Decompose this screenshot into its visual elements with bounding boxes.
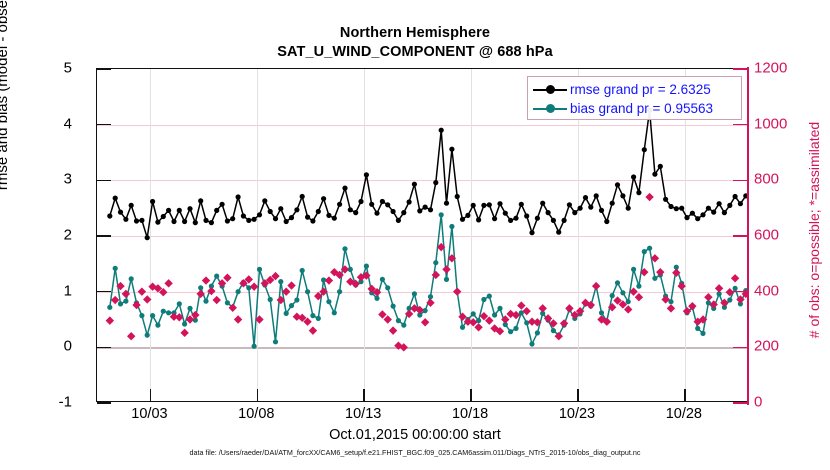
data-point bbox=[348, 207, 353, 212]
data-point bbox=[257, 212, 262, 217]
legend-item-bias[interactable]: bias grand pr = 0.95563 bbox=[533, 99, 736, 118]
data-point bbox=[234, 315, 242, 323]
bottom-axis-title: Oct.01,2015 00:00:00 start bbox=[0, 427, 830, 443]
data-point bbox=[209, 220, 214, 225]
right-axis-spine bbox=[747, 67, 749, 404]
y-axis-label-left: 2 bbox=[32, 227, 72, 244]
data-point bbox=[497, 201, 502, 206]
data-point bbox=[198, 198, 203, 203]
data-point bbox=[166, 208, 171, 213]
data-point bbox=[624, 305, 632, 313]
data-point bbox=[474, 323, 482, 331]
data-point bbox=[305, 215, 310, 220]
data-point bbox=[177, 208, 182, 213]
data-point bbox=[674, 206, 679, 211]
data-point bbox=[695, 216, 700, 221]
data-point bbox=[524, 320, 529, 325]
data-point bbox=[481, 203, 486, 208]
data-point bbox=[695, 326, 700, 331]
data-point bbox=[471, 203, 476, 208]
series-obs bbox=[106, 193, 747, 352]
data-point bbox=[161, 214, 166, 219]
tick-bottom bbox=[257, 389, 259, 401]
data-point bbox=[214, 208, 219, 213]
data-point bbox=[508, 329, 513, 334]
data-point bbox=[706, 206, 711, 211]
data-point bbox=[241, 213, 246, 218]
data-point bbox=[592, 282, 600, 290]
data-point bbox=[143, 295, 151, 303]
data-point bbox=[620, 193, 625, 198]
data-point bbox=[433, 180, 438, 185]
data-point bbox=[492, 216, 497, 221]
data-point bbox=[118, 301, 123, 306]
data-point bbox=[273, 339, 278, 344]
data-point bbox=[127, 332, 135, 340]
data-point bbox=[652, 276, 657, 281]
data-point bbox=[546, 210, 551, 215]
data-point bbox=[150, 199, 155, 204]
data-point bbox=[310, 218, 315, 223]
y-axis-label-right: 1000 bbox=[754, 115, 814, 132]
data-point bbox=[166, 310, 171, 315]
tick-bottom bbox=[577, 389, 579, 401]
data-point bbox=[177, 301, 182, 306]
data-point bbox=[636, 190, 641, 195]
data-point bbox=[442, 265, 450, 273]
data-point bbox=[717, 201, 722, 206]
tick-right bbox=[733, 68, 747, 70]
data-point bbox=[449, 147, 454, 152]
data-point bbox=[380, 277, 385, 282]
data-point bbox=[284, 311, 289, 316]
legend-item-rmse[interactable]: rmse grand pr = 2.6325 bbox=[533, 80, 736, 99]
data-point bbox=[460, 325, 465, 330]
data-point bbox=[380, 199, 385, 204]
data-point bbox=[439, 128, 444, 133]
tick-right bbox=[733, 402, 747, 404]
data-point bbox=[513, 216, 518, 221]
data-point bbox=[182, 219, 187, 224]
tick-right bbox=[733, 180, 747, 182]
data-point bbox=[353, 210, 358, 215]
data-point bbox=[578, 206, 583, 211]
data-point bbox=[642, 249, 647, 254]
data-point bbox=[385, 202, 390, 207]
data-point bbox=[631, 174, 636, 179]
data-point bbox=[278, 279, 283, 284]
data-point bbox=[316, 209, 321, 214]
data-point bbox=[631, 267, 636, 272]
data-point bbox=[684, 215, 689, 220]
tick-bottom bbox=[363, 389, 365, 401]
data-point bbox=[522, 307, 530, 315]
tick-left bbox=[97, 124, 111, 126]
tick-right bbox=[733, 291, 747, 293]
data-point bbox=[337, 289, 342, 294]
data-point bbox=[715, 284, 723, 292]
data-point bbox=[310, 313, 315, 318]
data-point bbox=[236, 194, 241, 199]
data-point bbox=[508, 218, 513, 223]
data-point bbox=[139, 313, 144, 318]
tick-left bbox=[97, 68, 111, 70]
data-point bbox=[134, 218, 139, 223]
data-point bbox=[289, 215, 294, 220]
data-point bbox=[711, 210, 716, 215]
data-point bbox=[594, 193, 599, 198]
data-point bbox=[401, 210, 406, 215]
data-point bbox=[551, 218, 556, 223]
data-point bbox=[513, 326, 518, 331]
data-point bbox=[540, 201, 545, 206]
data-point bbox=[533, 318, 541, 326]
data-file-footer: data file: /Users/raeder/DAI/ATM_forcXX/… bbox=[0, 448, 830, 457]
data-point bbox=[610, 201, 615, 206]
data-point bbox=[529, 230, 534, 235]
data-point bbox=[106, 316, 114, 324]
data-point bbox=[257, 267, 262, 272]
data-point bbox=[412, 182, 417, 187]
data-point bbox=[481, 297, 486, 302]
data-point bbox=[278, 206, 283, 211]
data-point bbox=[656, 268, 664, 276]
legend-marker-icon bbox=[533, 83, 567, 97]
data-point bbox=[487, 202, 492, 207]
tick-bottom bbox=[684, 389, 686, 401]
data-point bbox=[155, 323, 160, 328]
data-point bbox=[722, 210, 727, 215]
data-point bbox=[342, 246, 347, 251]
data-point bbox=[316, 316, 321, 321]
data-point bbox=[455, 194, 460, 199]
data-point bbox=[203, 299, 208, 304]
data-point bbox=[123, 299, 128, 304]
y-axis-label-left: 5 bbox=[32, 60, 72, 77]
data-point bbox=[599, 310, 604, 315]
legend-label: bias grand pr = 0.95563 bbox=[570, 101, 713, 116]
data-point bbox=[364, 264, 369, 269]
data-point bbox=[385, 285, 390, 290]
data-point bbox=[225, 218, 230, 223]
data-point bbox=[492, 312, 497, 317]
data-point bbox=[250, 282, 258, 290]
data-point bbox=[164, 279, 172, 287]
data-point bbox=[428, 207, 433, 212]
data-point bbox=[683, 307, 691, 315]
data-point bbox=[700, 212, 705, 217]
data-point bbox=[704, 293, 712, 301]
data-point bbox=[389, 326, 397, 334]
data-point bbox=[220, 202, 225, 207]
data-point bbox=[529, 341, 534, 346]
data-point bbox=[113, 266, 118, 271]
data-point bbox=[565, 304, 573, 312]
data-point bbox=[107, 213, 112, 218]
data-point bbox=[305, 289, 310, 294]
data-point bbox=[642, 147, 647, 152]
data-point bbox=[287, 281, 295, 289]
data-point bbox=[583, 195, 588, 200]
tick-right bbox=[733, 347, 747, 349]
data-point bbox=[449, 224, 454, 229]
data-point bbox=[374, 211, 379, 216]
data-point bbox=[145, 333, 150, 338]
legend: rmse grand pr = 2.6325bias grand pr = 0.… bbox=[527, 76, 742, 120]
x-axis-label: 10/08 bbox=[238, 406, 274, 422]
chart-title-line1: Northern Hemisphere bbox=[340, 25, 490, 41]
data-point bbox=[118, 210, 123, 215]
data-point bbox=[433, 260, 438, 265]
data-point bbox=[636, 284, 641, 289]
left-axis-title: rmse and bias (model - observation) bbox=[0, 0, 11, 235]
data-point bbox=[246, 218, 251, 223]
data-point bbox=[688, 302, 696, 310]
data-point bbox=[300, 268, 305, 273]
data-point bbox=[342, 186, 347, 191]
data-point bbox=[444, 201, 449, 206]
data-point bbox=[727, 297, 732, 302]
data-point bbox=[214, 274, 219, 279]
data-point bbox=[236, 289, 241, 294]
data-point bbox=[325, 276, 333, 284]
data-point bbox=[378, 310, 386, 318]
x-axis-label: 10/03 bbox=[131, 406, 167, 422]
data-point bbox=[252, 217, 257, 222]
data-point bbox=[202, 276, 210, 284]
data-point bbox=[171, 219, 176, 224]
data-point bbox=[198, 285, 203, 290]
data-point bbox=[423, 205, 428, 210]
data-point bbox=[645, 193, 653, 201]
data-point bbox=[107, 305, 112, 310]
data-point bbox=[384, 315, 392, 323]
data-point bbox=[679, 206, 684, 211]
data-point bbox=[213, 296, 221, 304]
tick-left bbox=[97, 347, 111, 349]
data-point bbox=[364, 172, 369, 177]
tick-right bbox=[733, 124, 747, 126]
data-point bbox=[203, 218, 208, 223]
data-point bbox=[187, 206, 192, 211]
data-point bbox=[497, 306, 502, 311]
data-point bbox=[428, 294, 433, 299]
data-point bbox=[487, 294, 492, 299]
y-axis-label-right: 0 bbox=[754, 394, 814, 411]
data-point bbox=[391, 209, 396, 214]
data-point bbox=[471, 311, 476, 316]
data-point bbox=[273, 216, 278, 221]
data-point bbox=[535, 216, 540, 221]
data-point bbox=[652, 172, 657, 177]
data-point bbox=[180, 329, 188, 337]
y-axis-label-left: 0 bbox=[32, 338, 72, 355]
data-point bbox=[289, 303, 294, 308]
data-point bbox=[155, 220, 160, 225]
data-point bbox=[284, 219, 289, 224]
data-point bbox=[326, 299, 331, 304]
data-point bbox=[321, 196, 326, 201]
data-point bbox=[567, 202, 572, 207]
data-point bbox=[252, 344, 257, 349]
data-point bbox=[223, 274, 231, 282]
data-point bbox=[332, 216, 337, 221]
data-point bbox=[626, 299, 631, 304]
legend-marker-icon bbox=[533, 102, 567, 116]
data-point bbox=[309, 326, 317, 334]
data-point bbox=[139, 218, 144, 223]
data-point bbox=[113, 196, 118, 201]
data-point bbox=[123, 217, 128, 222]
data-point bbox=[610, 293, 615, 298]
data-point bbox=[326, 213, 331, 218]
data-point bbox=[145, 235, 150, 240]
data-point bbox=[556, 230, 561, 235]
data-point bbox=[358, 199, 363, 204]
data-point bbox=[626, 206, 631, 211]
data-point bbox=[572, 210, 577, 215]
data-point bbox=[193, 220, 198, 225]
data-point bbox=[465, 213, 470, 218]
legend-label: rmse grand pr = 2.6325 bbox=[570, 82, 711, 97]
data-point bbox=[535, 330, 540, 335]
data-point bbox=[677, 282, 685, 290]
y-axis-label-right: 800 bbox=[754, 171, 814, 188]
data-point bbox=[407, 199, 412, 204]
data-point bbox=[294, 207, 299, 212]
data-point bbox=[262, 198, 267, 203]
data-point bbox=[374, 296, 379, 301]
data-point bbox=[230, 216, 235, 221]
x-axis-label: 10/13 bbox=[345, 406, 381, 422]
tick-bottom bbox=[470, 389, 472, 401]
data-point bbox=[620, 290, 625, 295]
data-point bbox=[300, 194, 305, 199]
data-point bbox=[731, 274, 739, 282]
data-point bbox=[517, 301, 525, 309]
data-point bbox=[150, 313, 155, 318]
tick-left bbox=[97, 235, 111, 237]
tick-left bbox=[97, 180, 111, 182]
x-axis-label: 10/23 bbox=[559, 406, 595, 422]
y-axis-label-right: 400 bbox=[754, 282, 814, 299]
data-point bbox=[476, 217, 481, 222]
data-point bbox=[332, 310, 337, 315]
data-point bbox=[268, 297, 273, 302]
data-point bbox=[129, 276, 134, 281]
data-point bbox=[733, 194, 738, 199]
x-axis-label: 10/18 bbox=[452, 406, 488, 422]
data-point bbox=[524, 213, 529, 218]
data-point bbox=[615, 182, 620, 187]
data-point bbox=[635, 293, 643, 301]
data-point bbox=[560, 319, 568, 327]
data-point bbox=[444, 277, 449, 282]
data-point bbox=[615, 280, 620, 285]
data-point bbox=[539, 304, 547, 312]
tick-left bbox=[97, 402, 111, 404]
chart-title-line2: SAT_U_WIND_COMPONENT @ 688 hPa bbox=[0, 43, 830, 62]
y-axis-label-left: 3 bbox=[32, 171, 72, 188]
y-axis-label-left: 1 bbox=[32, 282, 72, 299]
data-point bbox=[294, 297, 299, 302]
data-point bbox=[599, 208, 604, 213]
y-axis-label-right: 600 bbox=[754, 227, 814, 244]
data-point bbox=[421, 318, 429, 326]
data-point bbox=[396, 218, 401, 223]
data-point bbox=[412, 291, 417, 296]
data-point bbox=[700, 331, 705, 336]
data-point bbox=[161, 309, 166, 314]
data-point bbox=[663, 197, 668, 202]
data-point bbox=[396, 318, 401, 323]
chart-root: Northern Hemisphere SAT_U_WIND_COMPONENT… bbox=[0, 0, 830, 470]
data-point bbox=[401, 323, 406, 328]
tick-left bbox=[97, 291, 111, 293]
data-point bbox=[604, 219, 609, 224]
data-point bbox=[182, 321, 187, 326]
x-axis-label: 10/28 bbox=[666, 406, 702, 422]
data-point bbox=[225, 300, 230, 305]
series-rmse bbox=[107, 108, 747, 241]
data-point bbox=[391, 304, 396, 309]
data-point bbox=[647, 246, 652, 251]
data-point bbox=[460, 217, 465, 222]
data-point bbox=[588, 205, 593, 210]
data-point bbox=[562, 218, 567, 223]
data-point bbox=[690, 211, 695, 216]
data-point bbox=[187, 306, 192, 311]
data-point bbox=[138, 287, 146, 295]
data-point bbox=[417, 208, 422, 213]
y-axis-label-left: 4 bbox=[32, 115, 72, 132]
data-point bbox=[268, 209, 273, 214]
y-axis-label-right: 200 bbox=[754, 338, 814, 355]
data-point bbox=[503, 211, 508, 216]
data-point bbox=[738, 201, 743, 206]
data-point bbox=[667, 304, 675, 312]
data-point bbox=[668, 204, 673, 209]
chart-title: Northern Hemisphere SAT_U_WIND_COMPONENT… bbox=[0, 24, 830, 62]
data-point bbox=[727, 203, 732, 208]
tick-bottom bbox=[150, 389, 152, 401]
y-axis-label-right: 1200 bbox=[754, 60, 814, 77]
y-axis-label-left: -1 bbox=[32, 394, 72, 411]
data-point bbox=[453, 287, 461, 295]
tick-right bbox=[733, 235, 747, 237]
data-point bbox=[337, 202, 342, 207]
data-point bbox=[129, 203, 134, 208]
data-point bbox=[439, 212, 444, 217]
data-point bbox=[369, 202, 374, 207]
data-point bbox=[658, 164, 663, 169]
data-point bbox=[551, 328, 556, 333]
data-point bbox=[519, 202, 524, 207]
